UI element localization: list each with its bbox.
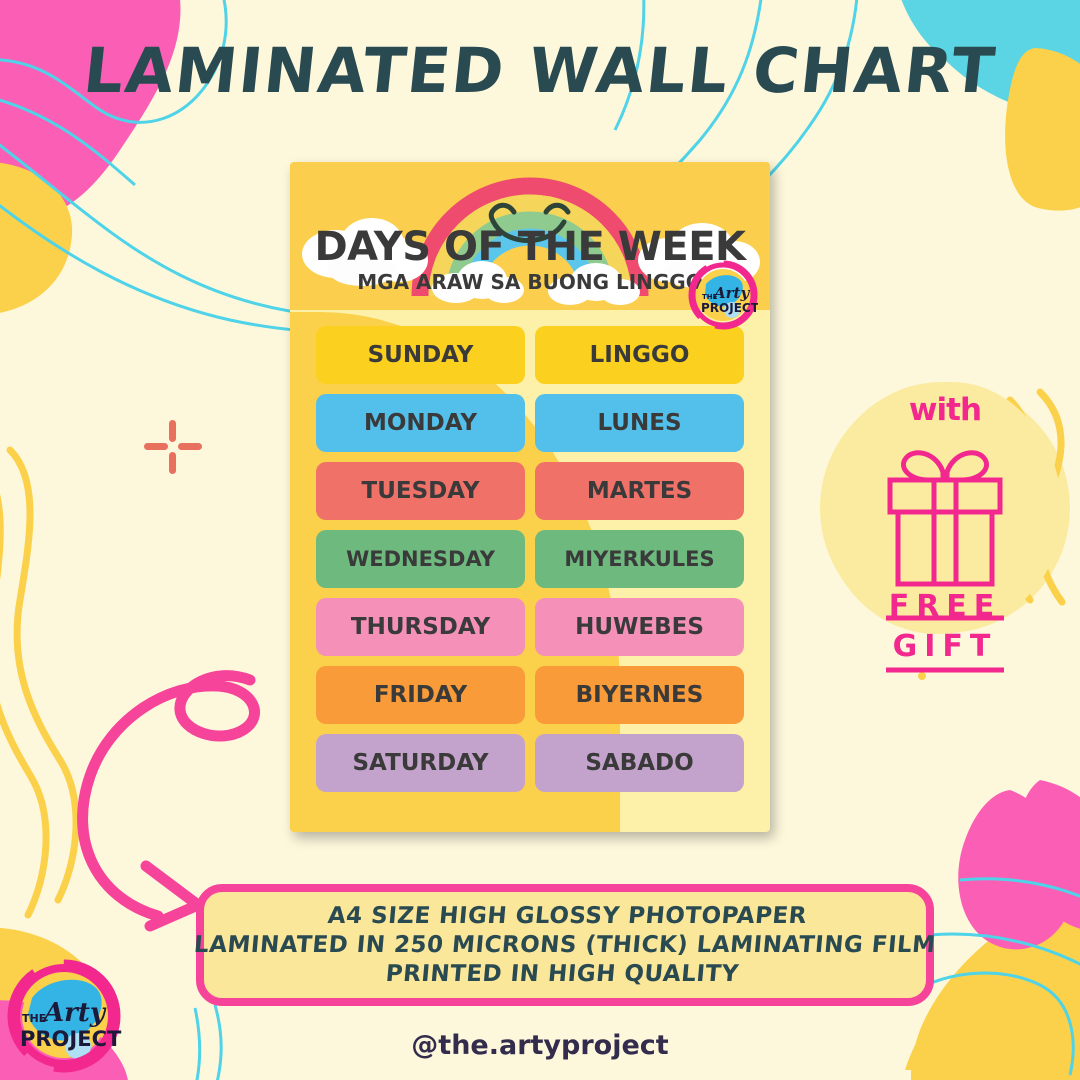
gift-label: GIFT: [893, 629, 998, 664]
gift-box-icon: FREE: [870, 430, 1020, 626]
gift-text-block: GIFT: [870, 614, 1020, 682]
day-chip-english[interactable]: FRIDAY: [316, 666, 525, 724]
poster-brand-logo: THE Arty PROJECT: [688, 260, 758, 330]
sparkle-icon: [138, 412, 208, 482]
spec-line-1: A4 SIZE HIGH GLOSSY PHOTOPAPER: [196, 902, 940, 931]
spec-banner-text: A4 SIZE HIGH GLOSSY PHOTOPAPER LAMINATED…: [190, 902, 939, 989]
day-chip-tagalog[interactable]: HUWEBES: [535, 598, 744, 656]
days-of-week-list: SUNDAY LINGGO MONDAY LUNES TUESDAY MARTE…: [316, 326, 744, 792]
poster-logo-arty: Arty: [712, 284, 750, 302]
day-chip-tagalog[interactable]: MIYERKULES: [535, 530, 744, 588]
brand-logo-the: THE: [22, 1012, 46, 1025]
free-gift-badge: with FREE GIFT: [860, 392, 1030, 682]
brand-logo-arty: Arty: [41, 998, 107, 1028]
day-chip-tagalog[interactable]: MARTES: [535, 462, 744, 520]
spec-line-2: LAMINATED IN 250 MICRONS (THICK) LAMINAT…: [193, 931, 937, 960]
day-chip-tagalog[interactable]: BIYERNES: [535, 666, 744, 724]
day-row: SUNDAY LINGGO: [316, 326, 744, 384]
day-row: SATURDAY SABADO: [316, 734, 744, 792]
day-row: WEDNESDAY MIYERKULES: [316, 530, 744, 588]
day-chip-tagalog[interactable]: LUNES: [535, 394, 744, 452]
day-chip-tagalog[interactable]: LINGGO: [535, 326, 744, 384]
day-chip-english[interactable]: WEDNESDAY: [316, 530, 525, 588]
day-row: THURSDAY HUWEBES: [316, 598, 744, 656]
with-label: with: [860, 392, 1030, 428]
page-title: LAMINATED WALL CHART: [0, 34, 1080, 107]
poster-logo-project: PROJECT: [701, 301, 758, 315]
spec-banner: A4 SIZE HIGH GLOSSY PHOTOPAPER LAMINATED…: [196, 884, 934, 1006]
brand-logo-project: PROJECT: [20, 1027, 122, 1051]
social-handle: @the.artyproject: [0, 1030, 1080, 1061]
day-chip-english[interactable]: MONDAY: [316, 394, 525, 452]
day-row: TUESDAY MARTES: [316, 462, 744, 520]
day-chip-tagalog[interactable]: SABADO: [535, 734, 744, 792]
day-chip-english[interactable]: SUNDAY: [316, 326, 525, 384]
page-title-text: LAMINATED WALL CHART: [80, 34, 1000, 107]
day-chip-english[interactable]: THURSDAY: [316, 598, 525, 656]
spec-line-3: PRINTED IN HIGH QUALITY: [190, 960, 934, 989]
wall-chart-poster: DAYS OF THE WEEK MGA ARAW SA BUONG LINGG…: [290, 162, 770, 832]
day-chip-english[interactable]: SATURDAY: [316, 734, 525, 792]
brand-logo: THE Arty PROJECT: [6, 958, 122, 1074]
day-row: MONDAY LUNES: [316, 394, 744, 452]
day-row: FRIDAY BIYERNES: [316, 666, 744, 724]
day-chip-english[interactable]: TUESDAY: [316, 462, 525, 520]
